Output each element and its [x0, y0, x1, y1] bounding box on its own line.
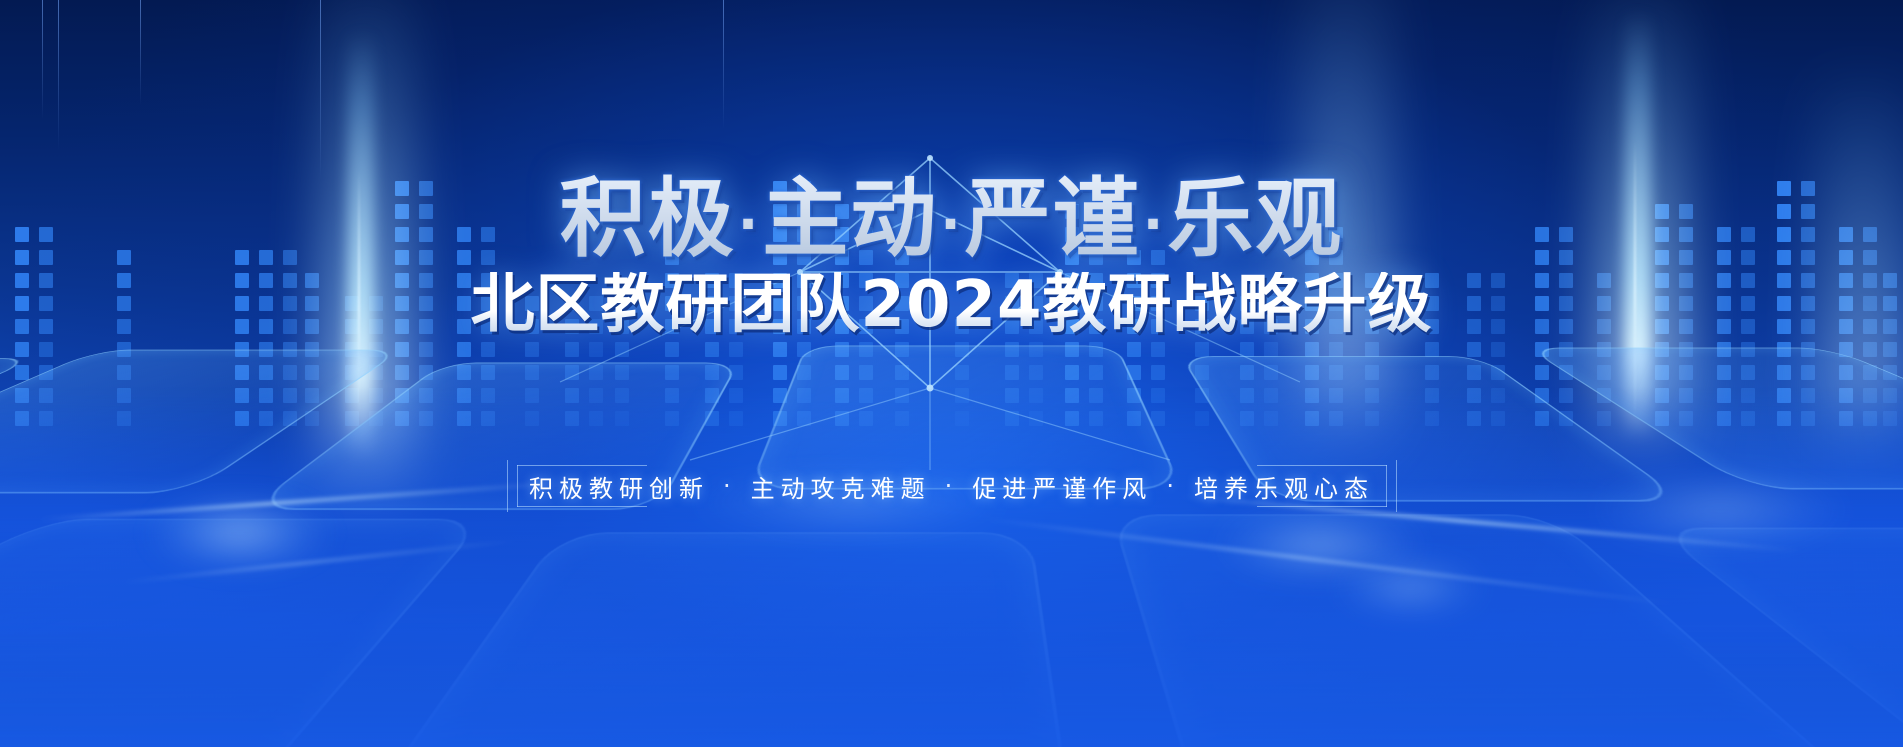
skyline-window	[419, 342, 433, 357]
skyline-window	[1491, 342, 1505, 357]
title-separator: ·	[1141, 193, 1168, 256]
skyline-window	[1240, 342, 1254, 357]
skyline-window	[1127, 342, 1141, 357]
skyline-window	[1425, 342, 1439, 357]
tagline-separator: ·	[709, 472, 751, 500]
skyline-window	[1329, 342, 1343, 357]
skyline-window	[457, 342, 471, 357]
tagline-item-3: 促进严谨作风	[972, 469, 1152, 504]
title-separator: ·	[938, 193, 965, 256]
promotional-banner: 积极·主动·严谨·乐观 北区教研团队2024教研战略升级 积极教研创新·主动攻克…	[0, 0, 1903, 747]
title-word-1: 积极	[560, 169, 736, 269]
skyline-window	[565, 342, 579, 357]
tagline-text: 积极教研创新·主动攻克难题·促进严谨作风·培养乐观心态	[507, 460, 1397, 512]
banner-content: 积极·主动·严谨·乐观 北区教研团队2024教研战略升级	[0, 0, 1903, 339]
skyline-window	[395, 342, 409, 357]
skyline-window	[1151, 342, 1165, 357]
skyline-window	[729, 342, 743, 357]
skyline-window	[773, 342, 787, 357]
tagline-item-1: 积极教研创新	[529, 469, 709, 504]
skyline-window	[589, 342, 603, 357]
skyline-window	[1195, 342, 1209, 357]
skyline-window	[481, 342, 495, 357]
skyline-window	[525, 342, 539, 357]
skyline-window	[1863, 342, 1877, 357]
skyline-window	[1264, 342, 1278, 357]
skyline-window	[39, 342, 53, 357]
tagline-item-2: 主动攻克难题	[751, 469, 931, 504]
skyline-window	[1467, 342, 1481, 357]
skyline-window	[705, 342, 719, 357]
skyline-window	[665, 342, 679, 357]
skyline-window	[615, 342, 629, 357]
page-subtitle: 北区教研团队2024教研战略升级	[0, 272, 1903, 339]
tagline-separator: ·	[931, 472, 973, 500]
title-separator: ·	[736, 193, 763, 256]
skyline-window	[1305, 342, 1319, 357]
tagline-separator: ·	[1152, 472, 1194, 500]
skyline-window	[1883, 342, 1897, 357]
tagline-item-4: 培养乐观心态	[1194, 469, 1374, 504]
perspective-tile-floor	[0, 367, 1903, 747]
page-title: 积极·主动·严谨·乐观	[0, 0, 1903, 262]
title-word-4: 乐观	[1167, 169, 1343, 269]
skyline-window	[1365, 342, 1379, 357]
title-word-2: 主动	[762, 169, 938, 269]
tagline-frame: 积极教研创新·主动攻克难题·促进严谨作风·培养乐观心态	[507, 460, 1397, 512]
title-word-3: 严谨	[965, 169, 1141, 269]
floor-tile	[0, 519, 487, 747]
skyline-window	[15, 342, 29, 357]
